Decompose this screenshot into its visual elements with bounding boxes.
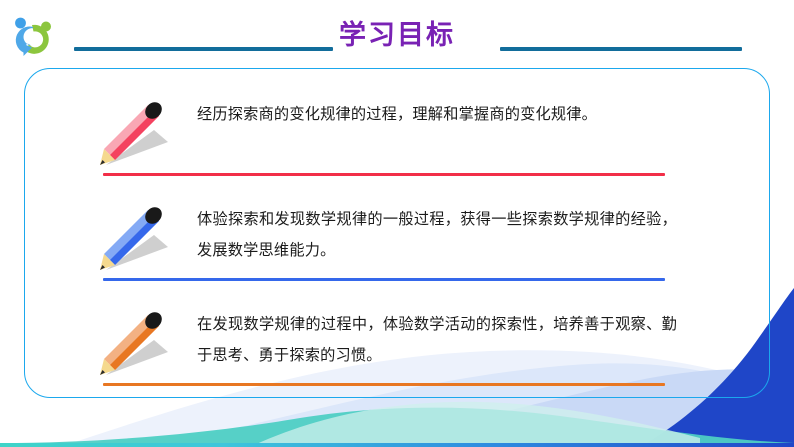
wave-teal [0, 408, 794, 447]
wave-teal-light [180, 405, 700, 447]
slide-canvas: 学习目标 经历探索商的变化规律的过程，理解和掌握商的变化规律。 [0, 0, 794, 447]
page-title: 学习目标 [0, 18, 794, 52]
list-item: 经历探索商的变化规律的过程，理解和掌握商的变化规律。 [0, 92, 794, 197]
bottom-accent-strip [0, 443, 794, 447]
list-item: 体验探索和发现数学规律的一般过程，获得一些探索数学规律的经验，发展数学思维能力。 [0, 197, 794, 302]
goal-list: 经历探索商的变化规律的过程，理解和掌握商的变化规律。 体验探索和发现数学规律的一… [0, 92, 794, 407]
goal-underline [103, 278, 665, 281]
pencil-icon-orange [98, 310, 176, 380]
slide-header: 学习目标 [0, 0, 794, 72]
goal-underline [103, 173, 665, 176]
goal-text: 在发现数学规律的过程中，体验数学活动的探索性，培养善于观察、勤于思考、勇于探索的… [197, 309, 677, 371]
pencil-icon-blue [98, 205, 176, 275]
list-item: 在发现数学规律的过程中，体验数学活动的探索性，培养善于观察、勤于思考、勇于探索的… [0, 302, 794, 407]
wave-teal-soft [250, 402, 700, 447]
pencil-icon-red [98, 100, 176, 170]
goal-text: 体验探索和发现数学规律的一般过程，获得一些探索数学规律的经验，发展数学思维能力。 [197, 204, 677, 266]
goal-text: 经历探索商的变化规律的过程，理解和掌握商的变化规律。 [197, 99, 677, 130]
goal-underline [103, 383, 665, 386]
